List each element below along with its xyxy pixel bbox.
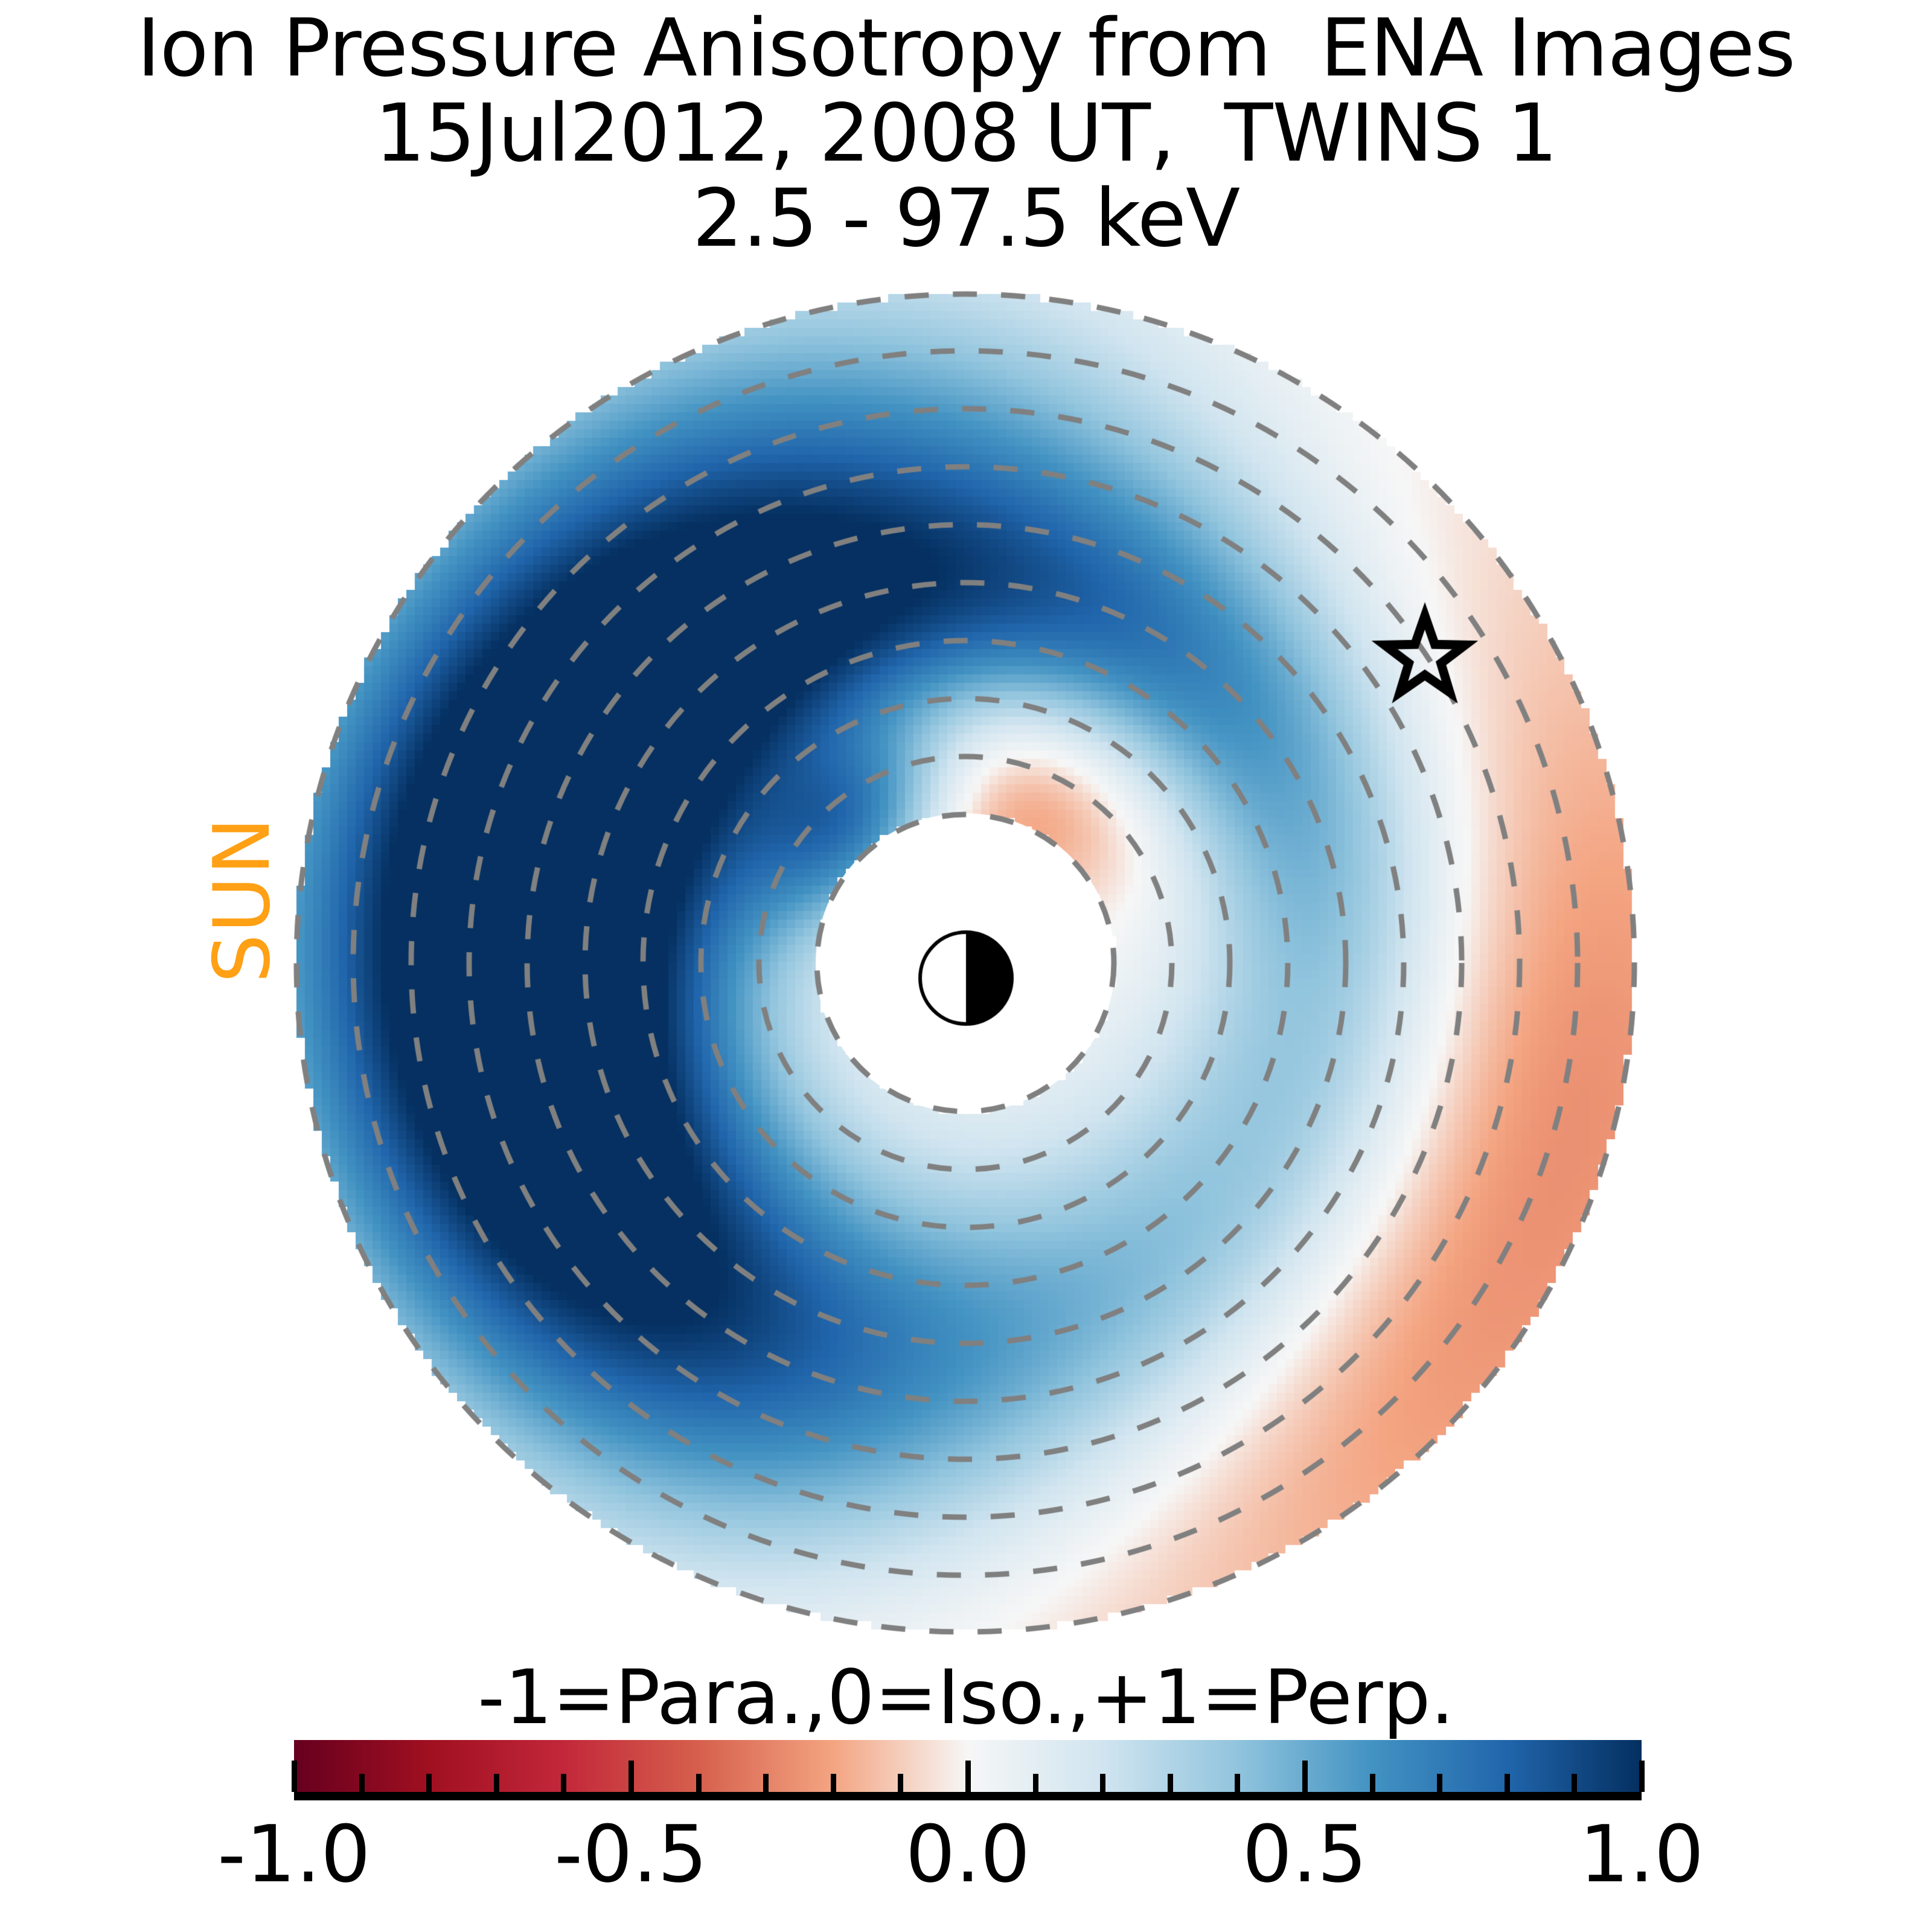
colorbar-tick — [1100, 1774, 1105, 1792]
colorbar-tick — [292, 1761, 297, 1792]
colorbar-tick — [763, 1774, 769, 1792]
colorbar-ticks — [294, 1740, 1642, 1792]
colorbar-tick-label: 0.5 — [1243, 1808, 1367, 1900]
colorbar-tick — [494, 1774, 499, 1792]
colorbar-tick — [629, 1761, 634, 1792]
colorbar-tick-label: 1.0 — [1579, 1808, 1704, 1900]
colorbar-tick — [359, 1774, 365, 1792]
colorbar-tick — [1505, 1774, 1510, 1792]
colorbar-axis-line — [294, 1792, 1642, 1800]
colorbar-tick — [965, 1761, 971, 1792]
colorbar-tick — [1437, 1774, 1442, 1792]
colorbar-tick — [426, 1774, 432, 1792]
polar-anisotropy-heatmap — [0, 0, 1932, 1932]
colorbar-tick — [1639, 1761, 1645, 1792]
colorbar-tick — [1168, 1774, 1173, 1792]
colorbar-tick — [898, 1774, 903, 1792]
colorbar-label: -1=Para.,0=Iso.,+1=Perp. — [0, 1654, 1932, 1741]
colorbar-tick — [1235, 1774, 1240, 1792]
colorbar-tick-label: 0.0 — [906, 1808, 1031, 1900]
colorbar-tick — [1370, 1774, 1375, 1792]
colorbar-tick — [561, 1774, 566, 1792]
sun-direction-label: SUN — [206, 800, 278, 999]
colorbar-tick — [1033, 1774, 1038, 1792]
colorbar-tick — [831, 1774, 836, 1792]
colorbar-tick — [1572, 1774, 1577, 1792]
colorbar-tick — [1302, 1761, 1308, 1792]
colorbar-tick-label: -0.5 — [554, 1808, 708, 1900]
figure-root: Ion Pressure Anisotropy from ENA Images … — [0, 0, 1932, 1932]
colorbar-tick — [696, 1774, 702, 1792]
sun-label-text: SUN — [197, 816, 287, 984]
colorbar-tick-labels: -1.0-0.50.00.51.0 — [0, 1808, 1932, 1911]
colorbar-tick-label: -1.0 — [217, 1808, 371, 1900]
